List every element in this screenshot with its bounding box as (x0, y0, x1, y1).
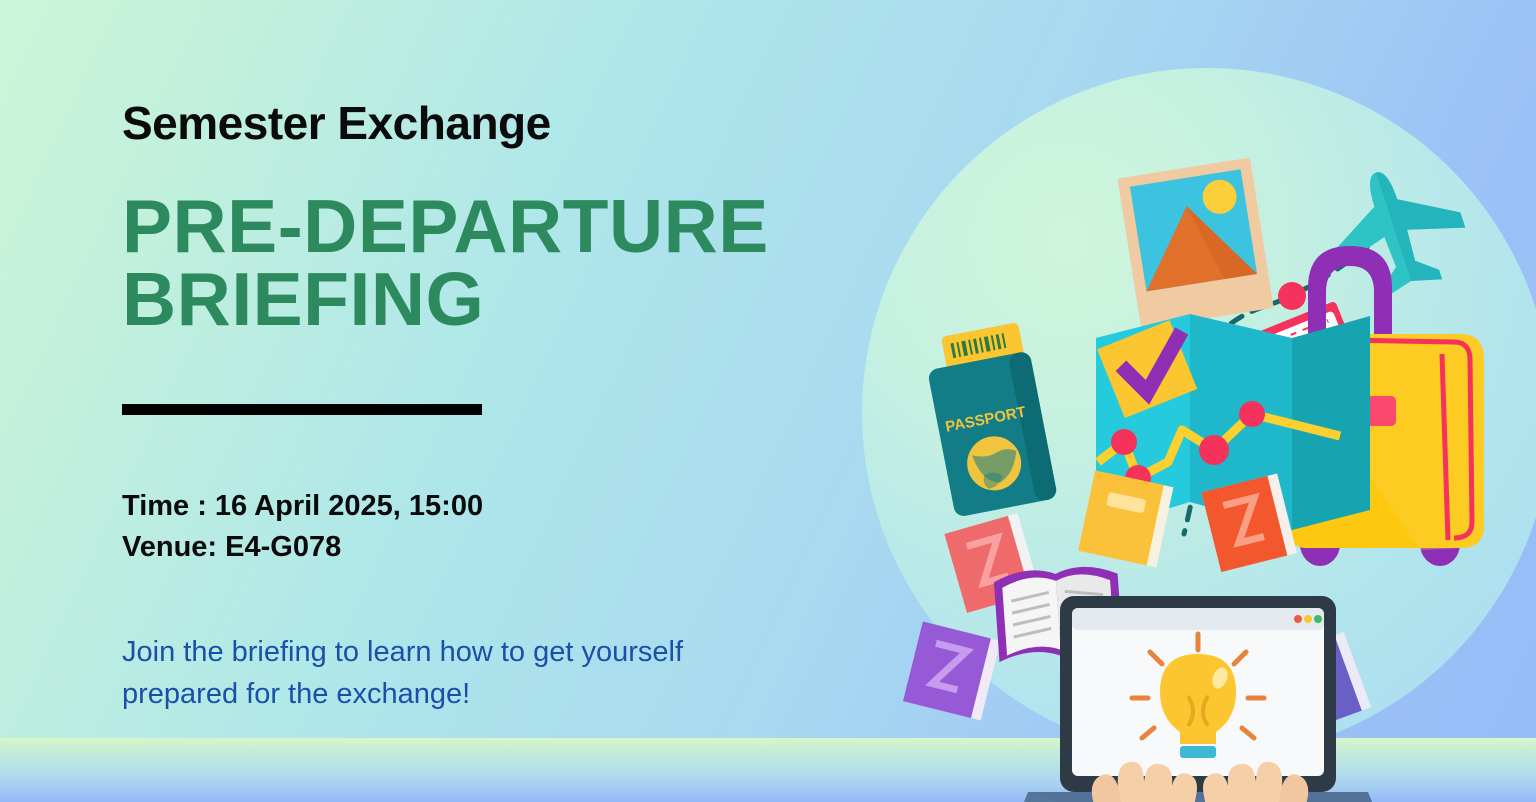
event-details: Time : 16 April 2025, 15:00 Venue: E4-G0… (122, 486, 483, 568)
kicker-text: Semester Exchange (122, 96, 551, 150)
poster-canvas: Semester Exchange PRE-DEPARTURE BRIEFING… (0, 0, 1536, 802)
polaroid-photo-icon (1118, 158, 1274, 329)
event-venue: Venue: E4-G078 (122, 527, 483, 568)
event-time: Time : 16 April 2025, 15:00 (122, 486, 483, 527)
page-title: PRE-DEPARTURE BRIEFING (122, 190, 882, 336)
tagline-text: Join the briefing to learn how to get yo… (122, 632, 742, 716)
airplane-icon (1311, 152, 1478, 310)
laptop-icon (1004, 596, 1392, 802)
headline-line-1: PRE-DEPARTURE (122, 184, 769, 268)
travel-illustration: PASSPORT (900, 110, 1500, 802)
passport-icon: PASSPORT (921, 321, 1057, 518)
headline-line-2: BRIEFING (122, 263, 882, 336)
divider-rule (122, 404, 482, 415)
